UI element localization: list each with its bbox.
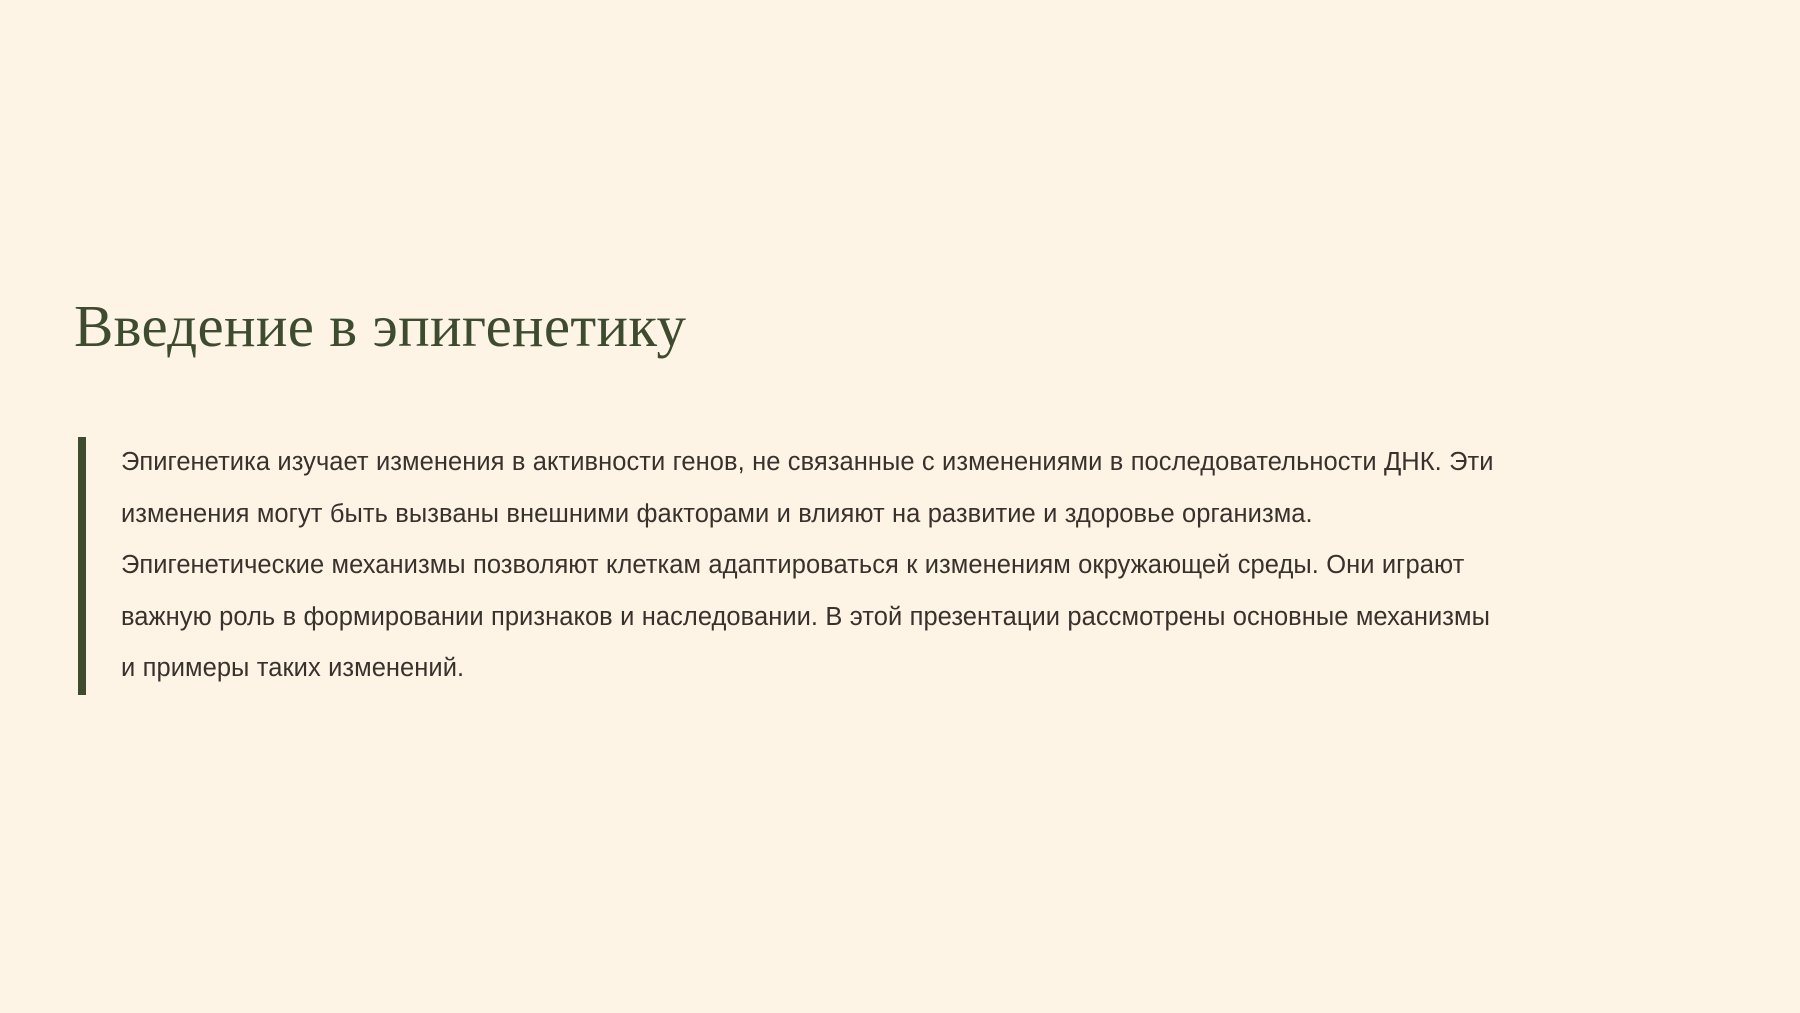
page-title: Введение в эпигенетику: [74, 293, 686, 359]
left-accent-bar: [78, 437, 86, 695]
body-text-block: Эпигенетика изучает изменения в активнос…: [78, 437, 1508, 695]
presentation-slide: Введение в эпигенетику Эпигенетика изуча…: [0, 0, 1800, 1013]
body-paragraph: Эпигенетика изучает изменения в активнос…: [86, 437, 1508, 695]
